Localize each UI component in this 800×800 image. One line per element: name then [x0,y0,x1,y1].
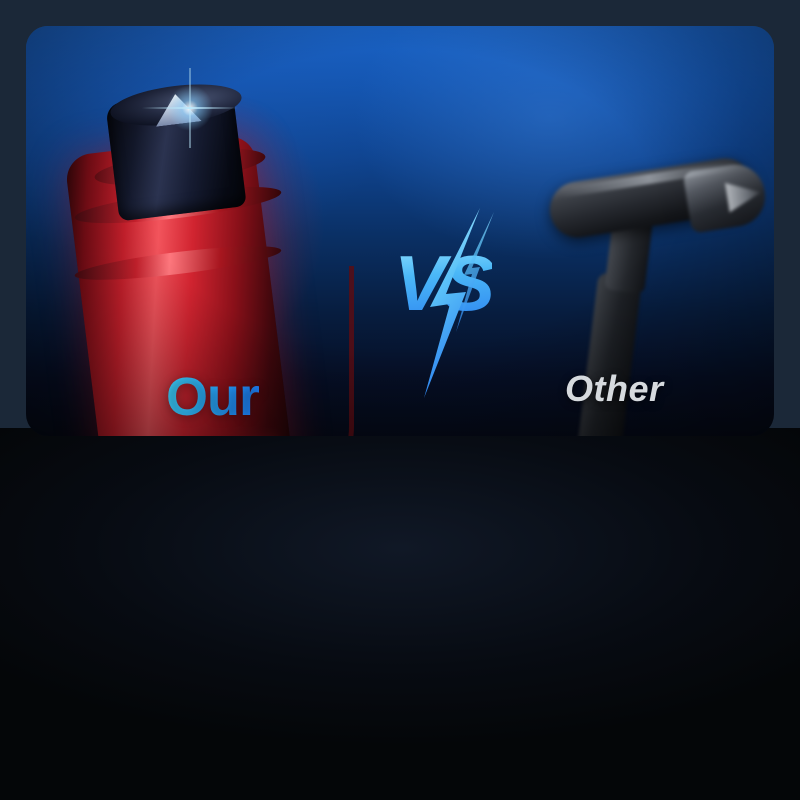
vs-badge: VS [384,212,534,392]
vs-label: VS [394,238,492,329]
hero-photo-panel: Our Other VS [26,26,774,436]
comparison-table: Hoytherdet Tungsten Valley Common carbon… [0,428,800,800]
other-label: Other [565,368,664,410]
infographic-canvas: Our Other VS Hoytherdet [0,0,800,800]
our-label: Our [166,366,259,428]
